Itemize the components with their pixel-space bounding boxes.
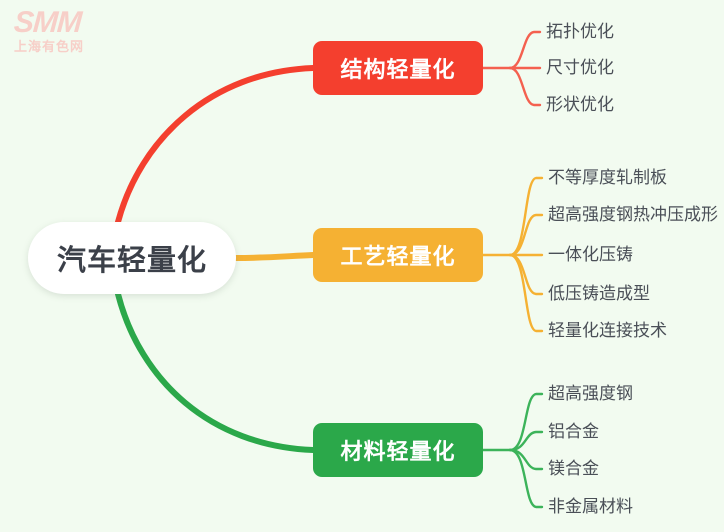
edge-root-to-branch-0 xyxy=(118,68,313,222)
leaf-label[interactable]: 一体化压铸 xyxy=(548,245,633,265)
edge-branch-0-leaf-0 xyxy=(510,32,540,68)
branch-node-structural[interactable]: 结构轻量化 xyxy=(313,41,483,95)
leaf-label[interactable]: 尺寸优化 xyxy=(546,58,614,78)
edge-root-to-branch-1 xyxy=(236,255,313,258)
edge-branch-1-leaf-0 xyxy=(510,178,542,255)
edge-branch-1-leaf-3 xyxy=(510,255,542,294)
leaf-label[interactable]: 镁合金 xyxy=(548,459,599,479)
leaf-label[interactable]: 不等厚度轧制板 xyxy=(548,168,667,188)
branch-node-label: 材料轻量化 xyxy=(340,434,455,466)
leaf-label[interactable]: 拓扑优化 xyxy=(546,22,614,42)
edge-branch-0-leaf-2 xyxy=(510,68,540,105)
leaf-label[interactable]: 非金属材料 xyxy=(548,497,633,517)
leaf-label[interactable]: 轻量化连接技术 xyxy=(548,321,667,341)
leaf-label[interactable]: 铝合金 xyxy=(548,422,599,442)
leaf-label[interactable]: 形状优化 xyxy=(546,95,614,115)
branch-node-material[interactable]: 材料轻量化 xyxy=(313,423,483,477)
leaf-label[interactable]: 超高强度钢 xyxy=(548,384,633,404)
mindmap-canvas: SMM 上海有色网 汽车轻量化 结构轻量化 工艺轻 xyxy=(0,0,724,532)
branch-node-label: 工艺轻量化 xyxy=(340,239,455,271)
root-node[interactable]: 汽车轻量化 xyxy=(28,222,236,294)
edge-root-to-branch-2 xyxy=(118,294,313,450)
edge-branch-2-leaf-3 xyxy=(510,450,542,507)
root-node-label: 汽车轻量化 xyxy=(57,237,207,279)
leaf-label[interactable]: 超高强度钢热冲压成形 xyxy=(548,205,718,225)
branch-node-process[interactable]: 工艺轻量化 xyxy=(313,228,483,282)
leaf-label[interactable]: 低压铸造成型 xyxy=(548,284,650,304)
branch-node-label: 结构轻量化 xyxy=(340,52,455,84)
edge-branch-1-leaf-1 xyxy=(510,215,542,255)
